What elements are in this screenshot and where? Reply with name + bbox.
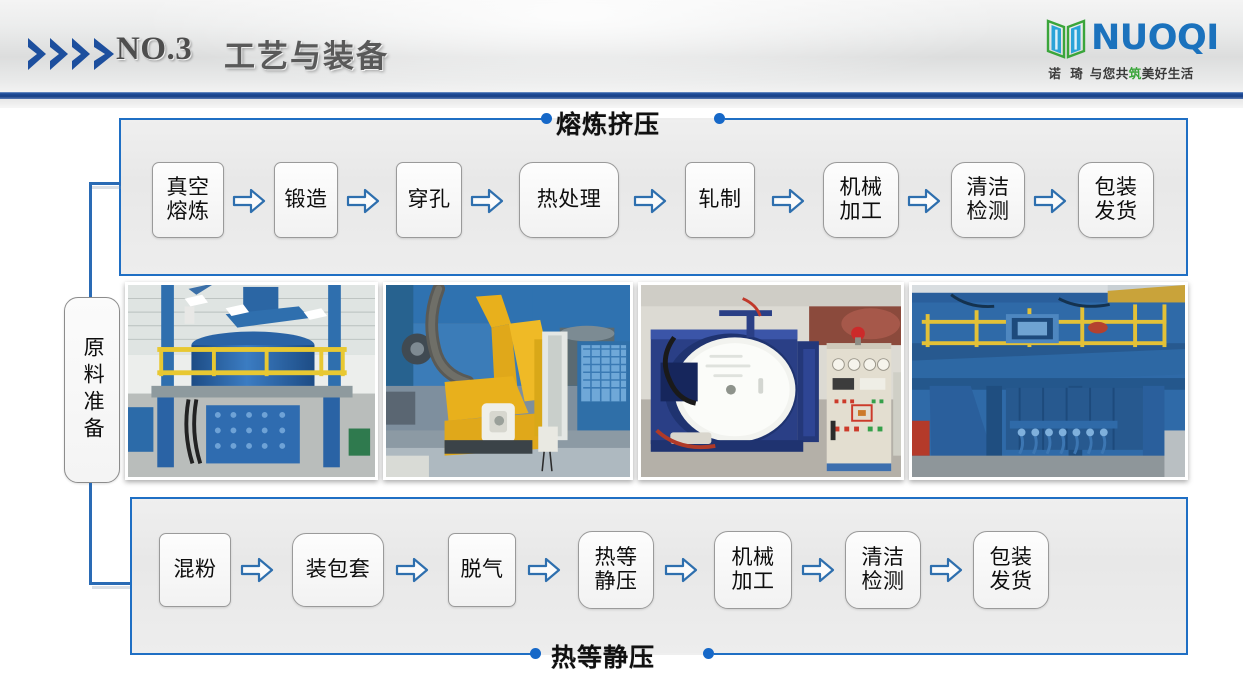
raw-material-label: 原料准备	[79, 336, 105, 444]
arrow-right-icon	[527, 555, 561, 585]
logo-tagline-right: 美好生活	[1142, 67, 1194, 81]
process-step-box[interactable]: 机械 加工	[714, 531, 792, 609]
arrow-right-icon	[395, 555, 429, 585]
process-step-box[interactable]: 真空 熔炼	[152, 162, 224, 238]
photo-extrusion-press	[383, 282, 633, 480]
arrow-right-icon	[771, 186, 805, 216]
arrow-right-icon	[801, 555, 835, 585]
panel-bottom-border-left	[130, 653, 534, 655]
connector-down-shadow	[92, 586, 133, 589]
panel-bottom-dot-right	[703, 648, 714, 659]
connector-up-horizontal	[89, 182, 121, 185]
process-step-label: 机械 加工	[840, 176, 883, 223]
process-step-label: 机械 加工	[732, 546, 775, 593]
process-step-label: 穿孔	[408, 188, 451, 212]
arrow-right-icon	[907, 186, 941, 216]
logo-tagline: 诺 琦 与您共筑美好生活	[1027, 63, 1215, 82]
logo-tagline-name: 诺 琦	[1048, 67, 1085, 81]
process-step-box[interactable]: 锻造	[274, 162, 338, 238]
process-step-box[interactable]: 脱气	[448, 533, 516, 607]
process-step-box[interactable]: 清洁 检测	[845, 531, 921, 609]
process-step-box[interactable]: 轧制	[685, 162, 755, 238]
process-step-box[interactable]: 机械 加工	[823, 162, 899, 238]
process-step-label: 装包套	[306, 558, 371, 582]
process-step-label: 热处理	[537, 188, 602, 212]
flow-label-melting-extrusion: 熔炼挤压	[556, 105, 660, 141]
process-step-label: 脱气	[461, 558, 504, 582]
process-step-label: 热等 静压	[595, 546, 638, 593]
arrow-right-icon	[470, 186, 504, 216]
process-step-label: 包装 发货	[1095, 176, 1138, 223]
panel-top-border-left	[119, 118, 546, 120]
connector-up-vertical	[89, 182, 92, 298]
panel-bottom-border-right	[714, 653, 1188, 655]
logo-tagline-accent: 筑	[1129, 67, 1142, 81]
connector-down-horizontal	[89, 582, 133, 585]
process-step-label: 清洁 检测	[862, 546, 905, 593]
photo-vacuum-melting-furnace	[125, 282, 378, 480]
page-title: 工艺与装备	[224, 31, 389, 76]
process-step-label: 混粉	[174, 558, 217, 582]
process-step-box[interactable]: 包装 发货	[1078, 162, 1154, 238]
process-step-box[interactable]: 热处理	[519, 162, 619, 238]
process-step-label: 真空 熔炼	[167, 176, 210, 223]
arrow-right-icon	[346, 186, 380, 216]
panel-top-dot-left	[541, 113, 552, 124]
arrow-right-icon	[1033, 186, 1067, 216]
process-step-box[interactable]: 热等 静压	[578, 531, 654, 609]
flow-label-hot-isostatic-pressing: 热等静压	[551, 638, 655, 674]
panel-top-dot-right	[714, 113, 725, 124]
process-step-label: 轧制	[699, 188, 742, 212]
double-chevron-right-icon	[26, 37, 118, 71]
header-divider	[0, 92, 1243, 99]
arrow-right-icon	[240, 555, 274, 585]
panel-bottom-dot-left	[530, 648, 541, 659]
page-title-number: NO.3	[116, 31, 192, 68]
photo-hip-equipment	[909, 282, 1188, 480]
process-step-box[interactable]: 穿孔	[396, 162, 462, 238]
brand-logo: NUOQI 诺 琦 与您共筑美好生活	[1025, 14, 1215, 86]
process-step-label: 清洁 检测	[967, 176, 1010, 223]
open-book-logo-icon	[1045, 16, 1087, 60]
arrow-right-icon	[633, 186, 667, 216]
process-step-box[interactable]: 装包套	[292, 533, 384, 607]
arrow-right-icon	[232, 186, 266, 216]
raw-material-box[interactable]: 原料准备	[64, 297, 120, 483]
process-step-label: 锻造	[285, 188, 328, 212]
process-step-label: 包装 发货	[990, 546, 1033, 593]
logo-wordmark: NUOQI	[1091, 18, 1219, 58]
process-step-box[interactable]: 混粉	[159, 533, 231, 607]
arrow-right-icon	[664, 555, 698, 585]
logo-tagline-mid: 与您共	[1090, 67, 1129, 81]
photo-vacuum-heat-treatment-furnace	[638, 282, 904, 480]
panel-top-border-right	[725, 118, 1188, 120]
connector-up-shadow	[92, 186, 121, 189]
process-step-box[interactable]: 清洁 检测	[951, 162, 1025, 238]
process-step-box[interactable]: 包装 发货	[973, 531, 1049, 609]
arrow-right-icon	[929, 555, 963, 585]
connector-down-vertical	[89, 483, 92, 585]
slide-canvas: NO.3 工艺与装备 NUOQI 诺 琦 与您共筑美好生活 熔炼挤压 真空 熔炼	[0, 0, 1243, 696]
